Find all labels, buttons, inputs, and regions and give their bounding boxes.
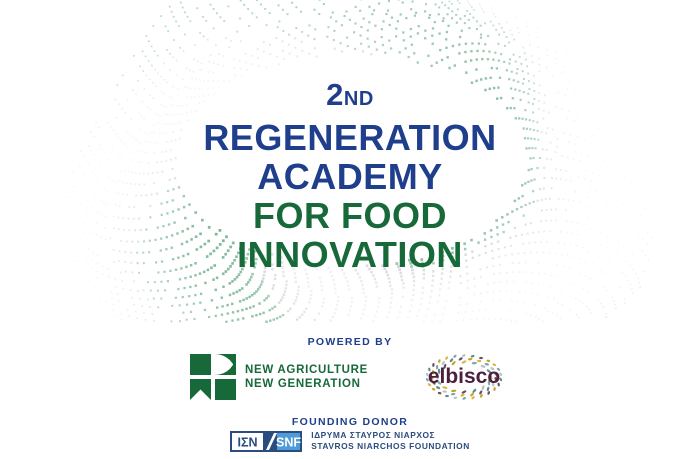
snf-logo-greek-text: ΙΣΝ (238, 435, 258, 449)
new-agriculture-line2: NEW GENERATION (245, 377, 368, 391)
logo-elbisco[interactable]: elbisco (418, 352, 510, 402)
headline-ordinal-number: 2 (326, 77, 344, 112)
snf-wordmark: ΙΔΡΥΜΑ ΣΤΑΥΡΟΣ ΝΙΑΡΧΟΣ STAVROS NIARCHOS … (311, 430, 470, 452)
headline-line-innovation: INNOVATION (0, 235, 700, 274)
logo-new-agriculture-new-generation[interactable]: NEW AGRICULTURE NEW GENERATION (190, 354, 368, 400)
new-agriculture-line1: NEW AGRICULTURE (245, 363, 368, 377)
founding-donor-row[interactable]: ΙΣΝ SNF ΙΔΡΥΜΑ ΣΤΑΥΡΟΣ ΝΙΑΡΧΟΣ STAVROS N… (0, 430, 700, 452)
elbisco-logo-icon: elbisco (418, 352, 510, 402)
snf-text-greek: ΙΔΡΥΜΑ ΣΤΑΥΡΟΣ ΝΙΑΡΧΟΣ (311, 430, 470, 441)
headline-line-academy: ACADEMY (0, 157, 700, 196)
founding-donor-label: FOUNDING DONOR (292, 416, 408, 428)
founding-donor-label-wrap: FOUNDING DONOR (0, 412, 700, 430)
new-agriculture-wordmark: NEW AGRICULTURE NEW GENERATION (245, 363, 368, 391)
elbisco-wordmark-text: elbisco (428, 365, 500, 388)
headline-line-for-food: FOR FOOD (0, 196, 700, 235)
sponsor-logo-row: NEW AGRICULTURE NEW GENERATION elbisco (0, 352, 700, 402)
headline-block: 2ND REGENERATION ACADEMY FOR FOOD INNOVA… (0, 78, 700, 274)
powered-by-label-wrap: POWERED BY (0, 332, 700, 350)
snf-logo-icon: ΙΣΝ SNF (230, 431, 302, 452)
poster-canvas: 2ND REGENERATION ACADEMY FOR FOOD INNOVA… (0, 0, 700, 459)
snf-logo-latin-text: SNF (276, 435, 301, 449)
headline-ordinal: 2ND (0, 78, 700, 116)
headline-ordinal-suffix: ND (344, 88, 374, 110)
headline-line-regeneration: REGENERATION (0, 118, 700, 157)
powered-by-label: POWERED BY (308, 336, 393, 348)
snf-text-english: STAVROS NIARCHOS FOUNDATION (311, 441, 470, 452)
new-agriculture-mark-icon (190, 354, 236, 400)
